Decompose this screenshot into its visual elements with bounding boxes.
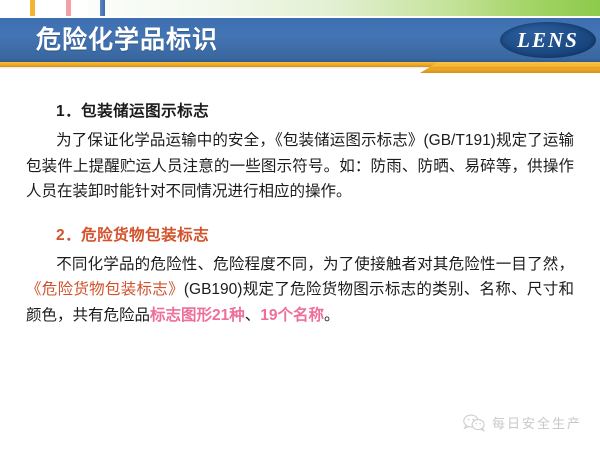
top-gradient-bar [88,0,600,16]
lens-logo-text: LENS [500,22,596,58]
top-decorative-strip [0,0,600,18]
section-2-standard-name: 《危险货物包装标志》 [26,281,184,298]
section-2-paragraph: 不同化学品的危险性、危险程度不同，为了使接触者对其危险性一目了然，《危险货物包装… [0,252,600,329]
header-shadow [0,67,600,69]
section-1-text: 为了保证化学品运输中的安全，《包装储运图示标志》(GB/T191)规定了运输包装… [26,132,574,200]
section-2-text-part-3: 、 [245,307,261,324]
section-2-highlight-name-count: 19个名称 [260,307,324,324]
wechat-icon [463,414,485,432]
section-2-text-part-4: 。 [324,307,340,324]
section-1: 1．包装储运图示标志 为了保证化学品运输中的安全，《包装储运图示标志》(GB/T… [0,100,600,205]
section-1-heading: 1．包装储运图示标志 [0,100,600,124]
strip-tick-orange [30,0,35,16]
strip-tick-blue [100,0,105,16]
strip-tick-pink [66,0,71,16]
slide-title: 危险化学品标识 [36,22,218,58]
footer-watermark: 每日安全生产 [463,413,582,432]
footer-watermark-text: 每日安全生产 [492,413,582,432]
section-2-text-part-1: 不同化学品的危险性、危险程度不同，为了使接触者对其危险性一目了然， [56,256,574,273]
section-2-heading: 2．危险货物包装标志 [0,224,600,248]
section-2-highlight-symbol-count: 标志图形21种 [150,307,245,324]
section-1-paragraph: 为了保证化学品运输中的安全，《包装储运图示标志》(GB/T191)规定了运输包装… [0,128,600,205]
lens-logo: LENS [500,22,596,58]
section-2: 2．危险货物包装标志 不同化学品的危险性、危险程度不同，为了使接触者对其危险性一… [0,224,600,329]
slide-body: 1．包装储运图示标志 为了保证化学品运输中的安全，《包装储运图示标志》(GB/T… [0,100,600,328]
